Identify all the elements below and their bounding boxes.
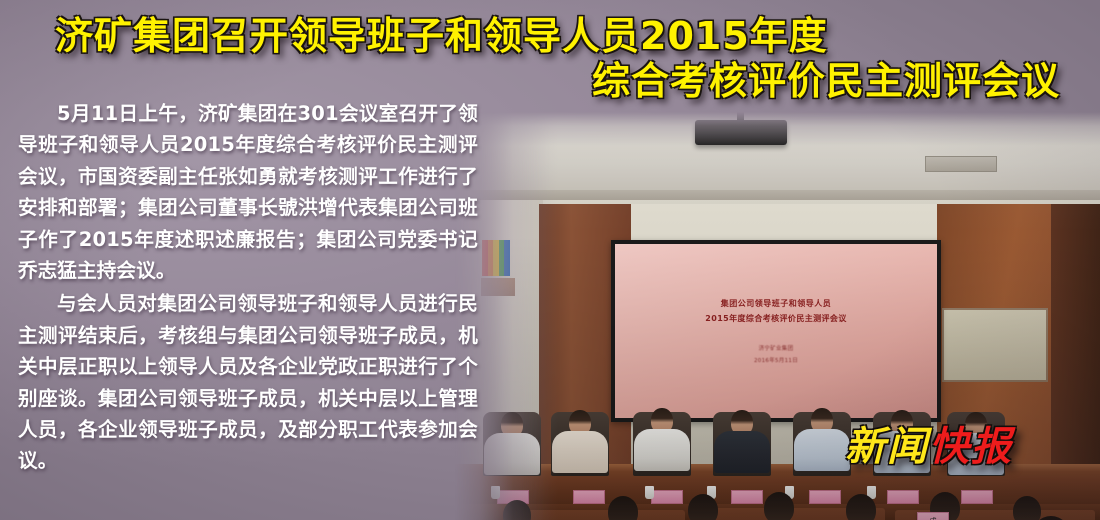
- badge-text-red: 快报: [929, 424, 1013, 470]
- news-flash-badge: 新闻快报: [845, 427, 1013, 467]
- headline-line-2: 综合考核评价民主测评会议: [55, 59, 1060, 104]
- news-banner: 集团公司领导班子和领导人员 2015年度综合考核评价民主测评会议 济宁矿业集团 …: [0, 0, 1100, 520]
- article-body: 5月11日上午，济矿集团在301会议室召开了领导班子和领导人员2015年度综合考…: [18, 98, 478, 477]
- badge-text-yellow: 新闻: [845, 424, 929, 470]
- headline-line-1: 济矿集团召开领导班子和领导人员2015年度: [55, 14, 1060, 59]
- article-paragraph-1: 5月11日上午，济矿集团在301会议室召开了领导班子和领导人员2015年度综合考…: [18, 98, 478, 286]
- headline: 济矿集团召开领导班子和领导人员2015年度 综合考核评价民主测评会议: [0, 14, 1060, 104]
- article-paragraph-2: 与会人员对集团公司领导班子和领导人员进行民主测评结束后，考核组与集团公司领导班子…: [18, 288, 478, 476]
